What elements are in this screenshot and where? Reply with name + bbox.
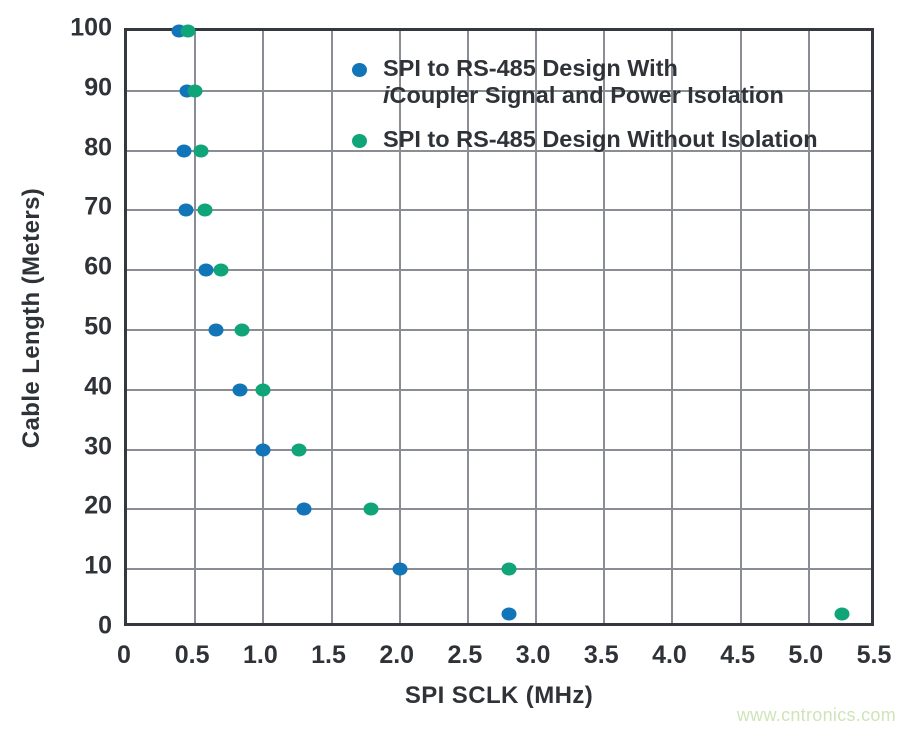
legend-label-isolated: SPI to RS-485 Design WithiCoupler Signal… — [383, 55, 784, 110]
y-axis-title: Cable Length (Meters) — [18, 88, 46, 548]
legend-label-nonisolated: SPI to RS-485 Design Without Isolation — [383, 126, 818, 153]
legend-marker-icon-green — [352, 134, 367, 148]
x-tick-label: 5.5 — [834, 641, 910, 670]
legend-item-isolated[interactable]: SPI to RS-485 Design WithiCoupler Signal… — [352, 55, 872, 110]
chart-legend: SPI to RS-485 Design WithiCoupler Signal… — [352, 55, 872, 169]
scatter-chart-figure: 0102030405060708090100 00.51.01.52.02.53… — [0, 0, 910, 736]
watermark-text: www.cntronics.com — [737, 705, 896, 726]
legend-item-nonisolated[interactable]: SPI to RS-485 Design Without Isolation — [352, 126, 872, 153]
legend-marker-icon-blue — [352, 63, 367, 77]
